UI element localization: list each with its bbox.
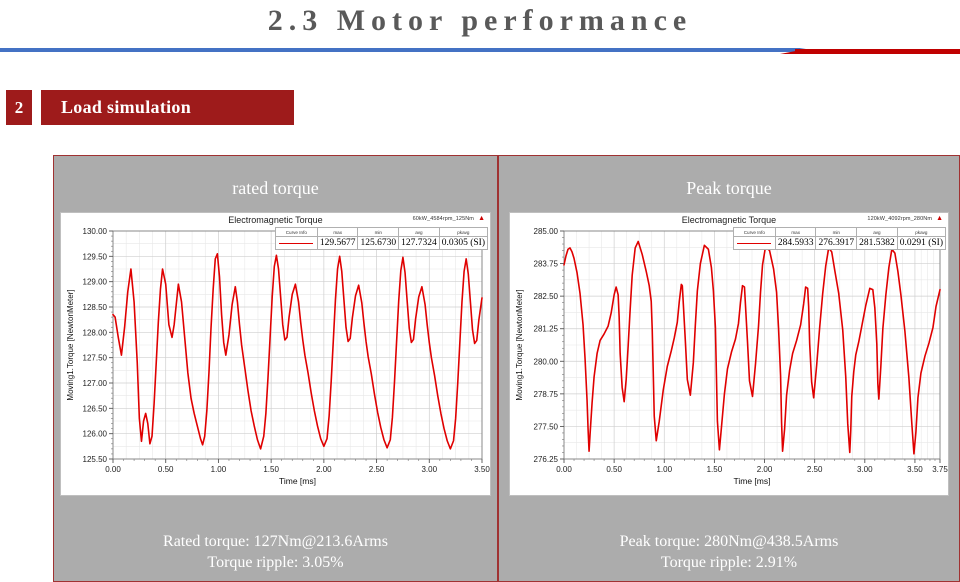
svg-text:283.75: 283.75	[534, 260, 559, 269]
svg-text:128.50: 128.50	[83, 303, 108, 312]
col-max: max	[775, 228, 816, 237]
svg-text:1.50: 1.50	[707, 465, 723, 474]
svg-text:Time [ms]: Time [ms]	[279, 476, 316, 486]
col-min: min	[816, 228, 857, 237]
svg-text:Moving1.Torque [NewtonMeter]: Moving1.Torque [NewtonMeter]	[66, 289, 75, 400]
right-heading: Peak torque	[686, 178, 771, 199]
svg-text:0.50: 0.50	[606, 465, 622, 474]
left-caption-line1: Rated torque: 127Nm@213.6Arms	[54, 531, 497, 552]
table-header-row: Curve Info max min avg pkavg	[275, 228, 487, 237]
left-half: rated torque Electromagnetic Torque 60kW…	[54, 156, 497, 581]
svg-text:278.75: 278.75	[534, 390, 559, 399]
left-chart: Electromagnetic Torque 60kW_4584rpm_125N…	[60, 212, 491, 496]
val-min: 125.6730	[358, 237, 399, 250]
svg-text:2.00: 2.00	[757, 465, 773, 474]
svg-text:129.00: 129.00	[83, 278, 108, 287]
svg-text:281.25: 281.25	[534, 325, 559, 334]
title-divider	[0, 46, 960, 55]
left-caption-line2: Torque ripple: 3.05%	[54, 552, 497, 573]
table-row: 129.5677 125.6730 127.7324 0.0305 (SI)	[275, 237, 487, 250]
svg-text:277.50: 277.50	[534, 422, 559, 431]
svg-text:129.50: 129.50	[83, 252, 108, 261]
val-pkavg: 0.0305 (SI)	[439, 237, 487, 250]
col-curve-info: Curve Info	[275, 228, 317, 237]
section-badge: 2 Load simulation	[6, 90, 294, 125]
col-min: min	[358, 228, 399, 237]
svg-text:127.50: 127.50	[83, 354, 108, 363]
table-header-row: Curve Info max min avg pkavg	[733, 228, 945, 237]
left-curve-info-table: Curve Info max min avg pkavg 129.5677 12…	[275, 227, 488, 250]
right-plot-svg: 276.25277.50278.75280.00281.25282.50283.…	[510, 213, 950, 497]
table-row: 284.5933 276.3917 281.5382 0.0291 (SI)	[733, 237, 945, 250]
left-plot-svg: 125.50126.00126.50127.00127.50128.00128.…	[61, 213, 492, 497]
svg-text:280.00: 280.00	[534, 357, 559, 366]
right-half: Peak torque Electromagnetic Torque 120kW…	[497, 156, 959, 581]
col-curve-info: Curve Info	[733, 228, 775, 237]
svg-text:2.50: 2.50	[369, 465, 385, 474]
content-panel: rated torque Electromagnetic Torque 60kW…	[53, 155, 960, 582]
svg-text:126.50: 126.50	[83, 404, 108, 413]
val-max: 129.5677	[317, 237, 358, 250]
svg-text:3.00: 3.00	[857, 465, 873, 474]
svg-text:127.00: 127.00	[83, 379, 108, 388]
col-max: max	[317, 228, 358, 237]
left-heading: rated torque	[232, 178, 318, 199]
slide-root: 2.3 Motor performance 2 Load simulation …	[0, 0, 960, 582]
svg-text:1.00: 1.00	[656, 465, 672, 474]
right-chart: Electromagnetic Torque 120kW_4092rpm_280…	[509, 212, 949, 496]
curve-swatch	[733, 237, 775, 250]
svg-text:126.00: 126.00	[83, 430, 108, 439]
val-pkavg: 0.0291 (SI)	[897, 237, 945, 250]
page-title: 2.3 Motor performance	[0, 4, 960, 38]
svg-text:282.50: 282.50	[534, 292, 559, 301]
val-avg: 281.5382	[857, 237, 898, 250]
svg-text:1.00: 1.00	[211, 465, 227, 474]
svg-text:125.50: 125.50	[83, 455, 108, 464]
section-number: 2	[6, 90, 32, 125]
val-min: 276.3917	[816, 237, 857, 250]
right-curve-info-table: Curve Info max min avg pkavg 284.5933 27…	[733, 227, 946, 250]
svg-text:2.50: 2.50	[807, 465, 823, 474]
divider-red-segment	[795, 49, 960, 54]
svg-text:Time [ms]: Time [ms]	[734, 476, 771, 486]
curve-swatch	[275, 237, 317, 250]
right-caption-line2: Torque ripple: 2.91%	[499, 552, 959, 573]
svg-text:1.50: 1.50	[263, 465, 279, 474]
val-max: 284.5933	[775, 237, 816, 250]
svg-text:2.00: 2.00	[316, 465, 332, 474]
svg-text:130.00: 130.00	[83, 227, 108, 236]
col-avg: avg	[857, 228, 898, 237]
col-pkavg: pkavg	[897, 228, 945, 237]
svg-text:0.00: 0.00	[105, 465, 121, 474]
divider-blue-segment	[0, 48, 800, 52]
right-caption-line1: Peak torque: 280Nm@438.5Arms	[499, 531, 959, 552]
svg-text:3.75: 3.75	[932, 465, 948, 474]
svg-text:0.50: 0.50	[158, 465, 174, 474]
section-label: Load simulation	[41, 90, 294, 125]
col-pkavg: pkavg	[439, 228, 487, 237]
svg-text:3.50: 3.50	[907, 465, 923, 474]
svg-text:3.00: 3.00	[421, 465, 437, 474]
svg-text:3.50: 3.50	[474, 465, 490, 474]
left-caption: Rated torque: 127Nm@213.6Arms Torque rip…	[54, 531, 497, 573]
svg-text:128.00: 128.00	[83, 328, 108, 337]
right-caption: Peak torque: 280Nm@438.5Arms Torque ripp…	[499, 531, 959, 573]
svg-text:276.25: 276.25	[534, 455, 559, 464]
svg-text:285.00: 285.00	[534, 227, 559, 236]
col-avg: avg	[399, 228, 440, 237]
svg-text:0.00: 0.00	[556, 465, 572, 474]
svg-text:Moving1.Torque [NewtonMeter]: Moving1.Torque [NewtonMeter]	[515, 289, 524, 400]
val-avg: 127.7324	[399, 237, 440, 250]
